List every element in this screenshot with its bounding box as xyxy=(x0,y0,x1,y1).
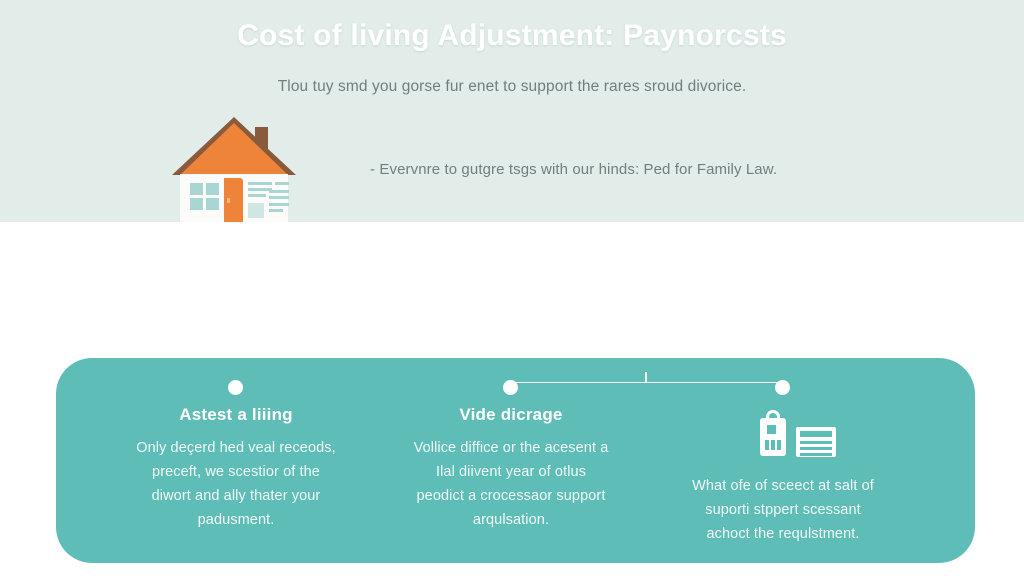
calculator-screen xyxy=(767,425,776,434)
house-window-pane xyxy=(190,198,203,210)
card-column-2: Vide dicrage Vollice diffice or the aces… xyxy=(411,405,611,532)
header-subtitle: Tlou tuy smd you gorse fur enet to suppo… xyxy=(0,78,1024,96)
timeline-node-3[interactable] xyxy=(775,380,790,395)
calculator-icon xyxy=(752,410,848,462)
calculator-pad-screen xyxy=(800,431,832,437)
card-column-2-heading: Vide dicrage xyxy=(411,405,611,425)
page-title: Cost of living Adjustment: Paynorcsts xyxy=(0,19,1024,53)
connector-center-tick xyxy=(645,372,647,383)
calculator-key xyxy=(765,440,769,450)
calculator-body xyxy=(760,418,786,456)
card-column-3: What ofe of sceect at salt of suporti st… xyxy=(683,462,883,546)
card-column-2-body: Vollice diffice or the acesent a Ilal di… xyxy=(411,436,611,532)
house-window-pane xyxy=(206,198,219,210)
timeline-node-2[interactable] xyxy=(503,380,518,395)
document-line xyxy=(269,209,283,212)
card-column-1-heading: Astest a liiing xyxy=(136,405,336,425)
card-column-1-body: Only deçerd hed veal receods, preceft, w… xyxy=(136,436,336,532)
header-band: Cost of living Adjustment: Paynorcsts Tl… xyxy=(0,0,1024,222)
calculator-key xyxy=(777,440,781,450)
timeline-node-1[interactable] xyxy=(228,380,243,395)
header-tagline: - Evervnre to gutgre tsgs with our hinds… xyxy=(370,161,890,178)
card-column-3-body: What ofe of sceect at salt of suporti st… xyxy=(683,474,883,546)
calculator-pad-row xyxy=(800,447,832,450)
house-window-pane xyxy=(190,183,203,195)
document-block xyxy=(248,203,264,218)
card-column-3-heading xyxy=(683,462,883,463)
document-line xyxy=(248,194,266,197)
calculator-pad-row xyxy=(800,441,832,444)
document-line xyxy=(248,182,272,185)
house-roof xyxy=(180,123,288,175)
house-icon xyxy=(172,117,296,222)
house-window-pane xyxy=(206,183,219,195)
document-line xyxy=(269,196,289,199)
document-line xyxy=(275,182,289,185)
card-column-1: Astest a liiing Only deçerd hed veal rec… xyxy=(136,405,336,532)
document-line xyxy=(269,190,289,193)
house-door-knob xyxy=(227,198,230,203)
document-line xyxy=(269,203,289,206)
calculator-key xyxy=(771,440,775,450)
calculator-pad-row xyxy=(800,453,832,456)
